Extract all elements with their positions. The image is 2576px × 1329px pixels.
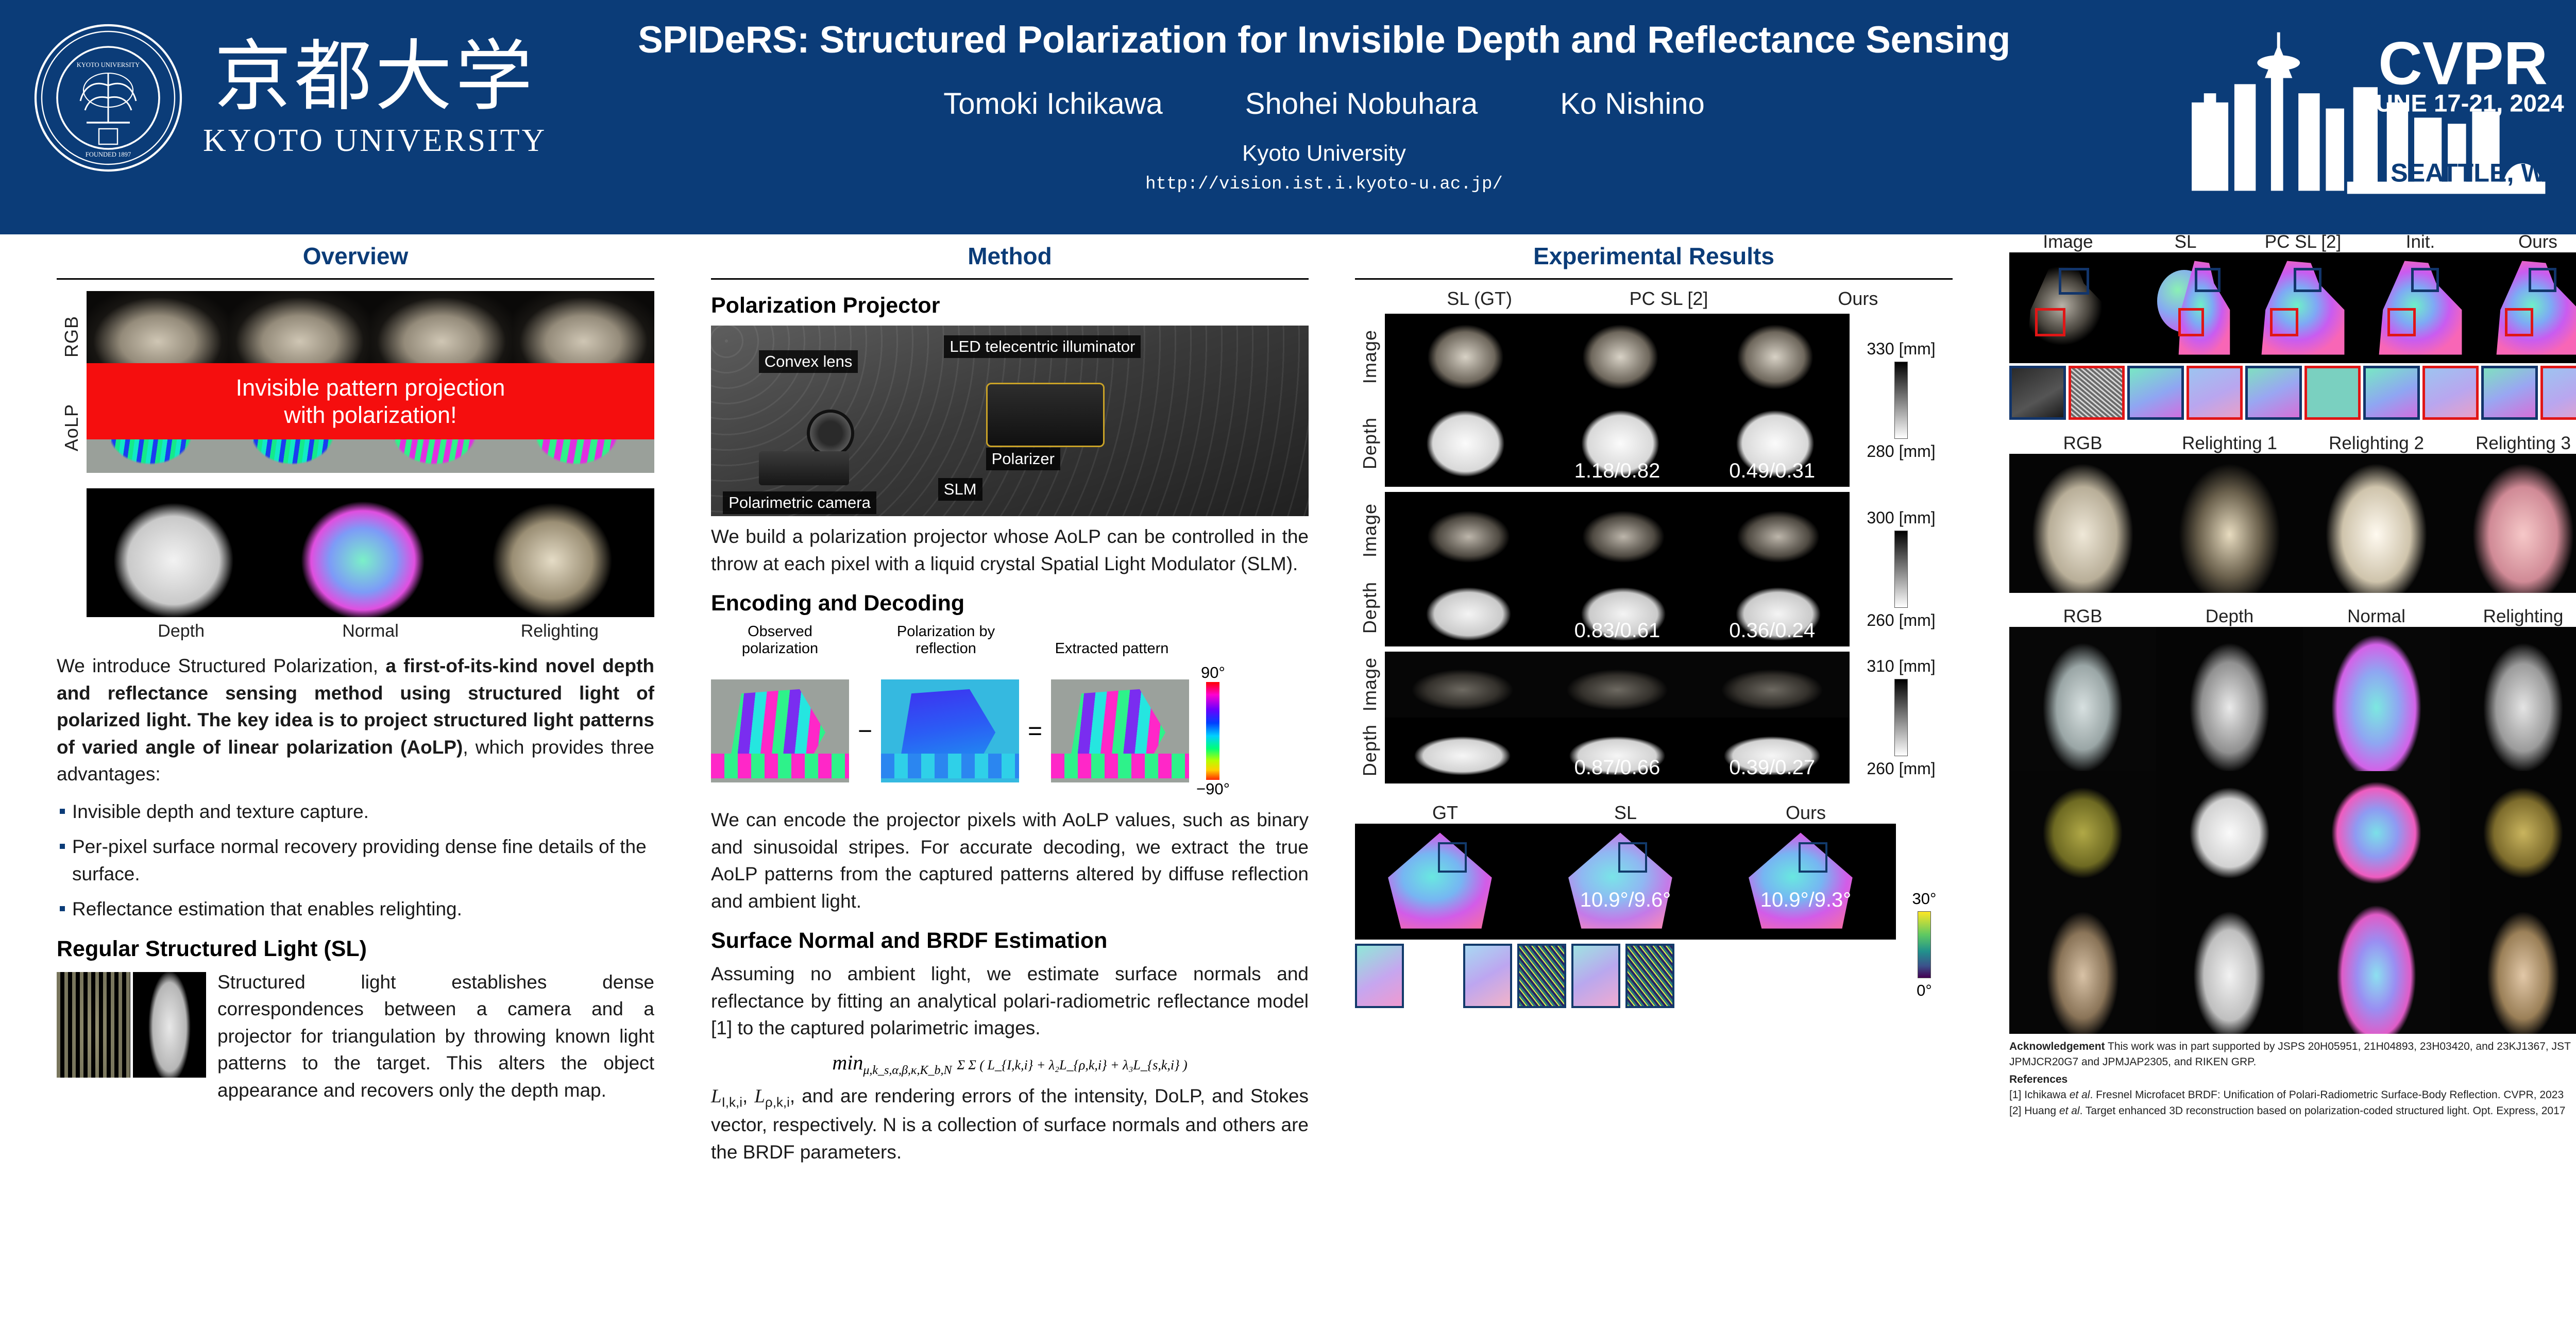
header-ours: Ours bbox=[2479, 232, 2576, 252]
extracted-pattern-image bbox=[1051, 679, 1189, 782]
relighting-result-image bbox=[465, 488, 654, 617]
colorbar-min-3: 260 [mm] bbox=[1867, 759, 1935, 778]
result-block-3: Image Depth 0.87/0.66 0.39/0.27 310 [ bbox=[1355, 652, 1953, 783]
sl-striped-capture bbox=[57, 972, 130, 1078]
polarimetric-camera-object bbox=[759, 451, 849, 485]
encoding-captions-row: Observed polarization Polarization by re… bbox=[711, 623, 1309, 657]
pug-normal-pcsl bbox=[2244, 252, 2362, 363]
aolp-scale-max: 90° bbox=[1201, 663, 1225, 682]
header-gallery-normal: Normal bbox=[2303, 606, 2450, 627]
header-pc-sl: PC SL [2] bbox=[2244, 232, 2362, 252]
brdf-description: Assuming no ambient light, we estimate s… bbox=[711, 961, 1309, 1042]
header-relight-rgb: RGB bbox=[2009, 433, 2156, 454]
metric-normal-sl: 10.9°/9.6° bbox=[1580, 889, 1671, 912]
zoom-inset-ours-error bbox=[1625, 944, 1674, 1008]
reference-item-2: [2] Huang et al. Target enhanced 3D reco… bbox=[2009, 1103, 2576, 1119]
column-overview: Overview RGB AoLP bbox=[57, 242, 654, 1104]
row-label-image: Image bbox=[1359, 330, 1381, 384]
zoom-inset-ours-normal bbox=[1571, 944, 1620, 1008]
polarization-by-reflection-image bbox=[881, 679, 1019, 782]
image-pcsl-3 bbox=[1540, 652, 1695, 718]
depth-ours-3: 0.39/0.27 bbox=[1694, 718, 1850, 783]
depth-pcsl-2: 0.83/0.61 bbox=[1540, 569, 1695, 646]
relighting-headers: RGB Relighting 1 Relighting 2 Relighting… bbox=[2009, 433, 2576, 454]
result-block-2: Image Depth 0.83/0.61 0.36/0.24 300 [ bbox=[1355, 492, 1953, 646]
angular-error-colorbar: 30° 0° bbox=[1896, 791, 1953, 1008]
aolp-colorbar: 90° −90° bbox=[1196, 663, 1230, 798]
normal-comparison-headers: GT SL Ours bbox=[1355, 802, 1896, 824]
header-ours: Ours bbox=[1764, 288, 1953, 310]
colorbar-min-1: 280 [mm] bbox=[1867, 442, 1935, 461]
depth-pcsl-1: 1.18/0.82 bbox=[1540, 400, 1695, 487]
colorbar-min-2: 260 [mm] bbox=[1867, 611, 1935, 630]
zoom-inset-sl-normal bbox=[1463, 944, 1512, 1008]
pug-normal-comparison-strip bbox=[2009, 252, 2576, 363]
depth-pcsl-3: 0.87/0.66 bbox=[1540, 718, 1695, 783]
aolp-colorbar-gradient bbox=[1206, 682, 1219, 780]
banner-line-1: Invisible pattern projection bbox=[236, 374, 505, 401]
gallery-grid bbox=[2009, 627, 2576, 1034]
zoom-inset-sl-error bbox=[1517, 944, 1566, 1008]
caption-observed-polarization: Observed polarization bbox=[711, 623, 849, 657]
led-illuminator-object bbox=[986, 383, 1105, 447]
section-divider bbox=[1355, 278, 1953, 280]
inset-init-red bbox=[2422, 366, 2479, 420]
column-experimental-results: Experimental Results SL (GT) PC SL [2] O… bbox=[1355, 242, 1953, 1008]
author-1: Tomoki Ichikawa bbox=[943, 87, 1162, 121]
image-ours-1 bbox=[1694, 314, 1850, 400]
overview-advantages-list: Invisible depth and texture capture. Per… bbox=[57, 798, 654, 923]
depth-gt-2 bbox=[1385, 569, 1540, 646]
zoom-inset-gt bbox=[1355, 944, 1404, 1008]
section-title-experimental-results: Experimental Results bbox=[1355, 242, 1953, 278]
image-ours-2 bbox=[1694, 492, 1850, 569]
gallery-rgb-3 bbox=[2009, 895, 2156, 1034]
row-label-image: Image bbox=[1359, 503, 1381, 557]
intro-pre-text: We introduce Structured Polarization, bbox=[57, 655, 385, 676]
ref-1-etal: et al bbox=[2070, 1089, 2090, 1101]
overview-intro-paragraph: We introduce Structured Polarization, a … bbox=[57, 653, 654, 788]
sl-depth-map bbox=[133, 972, 207, 1078]
author-3: Ko Nishino bbox=[1560, 87, 1704, 121]
kyoto-university-seal-icon: KYOTO UNIVERSITY FOUNDED 1897 bbox=[31, 21, 185, 175]
colorbar-max-3: 310 [mm] bbox=[1867, 657, 1935, 676]
list-item: Per-pixel surface normal recovery provid… bbox=[57, 833, 654, 888]
inset-sl-blue bbox=[2127, 366, 2184, 420]
header-normal-sl: SL bbox=[1535, 802, 1716, 824]
ref-2-rest: . Target enhanced 3D reconstruction base… bbox=[2080, 1105, 2566, 1117]
section-divider bbox=[711, 278, 1309, 280]
row-label-rgb: RGB bbox=[61, 316, 82, 357]
header-relight-1: Relighting 1 bbox=[2156, 433, 2303, 454]
pug-capture-image bbox=[2009, 252, 2127, 363]
pug-normal-sl bbox=[2127, 252, 2244, 363]
results-column-headers: SL (GT) PC SL [2] Ours bbox=[1385, 288, 1953, 310]
affiliation: Kyoto University bbox=[505, 141, 2143, 166]
relighting-results-strip bbox=[2009, 454, 2576, 593]
normal-colorbar-max: 30° bbox=[1912, 890, 1937, 908]
relight-rgb-image bbox=[2009, 454, 2156, 593]
acknowledgement-line: Acknowledgement This work was in part su… bbox=[2009, 1039, 2576, 1070]
metric-pcsl-3: 0.87/0.66 bbox=[1574, 756, 1660, 779]
image-gt-2 bbox=[1385, 492, 1540, 569]
caption-relighting: Relighting bbox=[465, 621, 654, 641]
header-relight-3: Relighting 3 bbox=[2450, 433, 2576, 454]
metric-pcsl-2: 0.83/0.61 bbox=[1574, 619, 1660, 642]
gallery-relight-3 bbox=[2450, 895, 2576, 1034]
image-pcsl-1 bbox=[1540, 314, 1695, 400]
caption-extracted-pattern: Extracted pattern bbox=[1043, 640, 1181, 657]
gallery-depth-2 bbox=[2156, 771, 2303, 895]
row-label-depth: Depth bbox=[1359, 724, 1381, 776]
normal-zoom-insets bbox=[1355, 944, 1896, 1008]
ref-1-rest: . Fresnel Microfacet BRDF: Unification o… bbox=[2090, 1089, 2564, 1101]
header-normal-ours: Ours bbox=[1716, 802, 1896, 824]
caption-depth: Depth bbox=[87, 621, 276, 641]
inset-sl-red bbox=[2187, 366, 2243, 420]
equation-min-operator: min bbox=[832, 1051, 863, 1074]
metric-pcsl-1: 1.18/0.82 bbox=[1574, 459, 1660, 483]
normal-gt-image bbox=[1355, 824, 1535, 940]
image-gt-1 bbox=[1385, 314, 1540, 400]
inset-image-red bbox=[2069, 366, 2125, 420]
caption-polarization-by-reflection: Polarization by reflection bbox=[877, 623, 1015, 657]
pug-normal-init bbox=[2362, 252, 2479, 363]
observed-polarization-image bbox=[711, 679, 849, 782]
gallery-normal-1 bbox=[2303, 627, 2450, 771]
gallery-depth-1 bbox=[2156, 627, 2303, 771]
minus-operator: − bbox=[856, 717, 874, 745]
poster-title: SPIDeRS: Structured Polarization for Inv… bbox=[505, 20, 2143, 61]
cvpr-location: SEATTLE, WA bbox=[2391, 158, 2563, 188]
label-convex-lens: Convex lens bbox=[759, 350, 858, 373]
image-pcsl-2 bbox=[1540, 492, 1695, 569]
normal-sl-image: 10.9°/9.6° bbox=[1535, 824, 1716, 940]
metric-normal-ours: 10.9°/9.3° bbox=[1760, 889, 1852, 912]
projector-description: We build a polarization projector whose … bbox=[711, 523, 1309, 577]
gallery-row-3 bbox=[2009, 895, 2576, 1034]
overview-results-trio: Depth Normal Relighting bbox=[87, 488, 654, 641]
cvpr-dates: JUNE 17-21, 2024 bbox=[2362, 90, 2565, 117]
normal-method-headers: Image SL PC SL [2] Init. Ours bbox=[2009, 232, 2576, 252]
section-title-overview: Overview bbox=[57, 242, 654, 278]
university-name-jp: 京都大学 bbox=[214, 37, 536, 118]
header-image: Image bbox=[2009, 232, 2127, 252]
list-item: Reflectance estimation that enables reli… bbox=[57, 896, 654, 923]
gallery-headers: RGB Depth Normal Relighting bbox=[2009, 606, 2576, 627]
equation-subscript: μ,k_s,α,β,κ,K_b,N bbox=[863, 1064, 952, 1077]
depth-ours-2: 0.36/0.24 bbox=[1694, 569, 1850, 646]
cvpr-conference-logo: CVPR JUNE 17-21, 2024 SEATTLE, WA bbox=[2161, 23, 2576, 206]
title-block: SPIDeRS: Structured Polarization for Inv… bbox=[505, 20, 2143, 194]
encoding-description: We can encode the projector pixels with … bbox=[711, 807, 1309, 915]
subsection-structured-light: Regular Structured Light (SL) bbox=[57, 936, 654, 962]
equals-operator: = bbox=[1026, 717, 1044, 745]
encoding-equation-figure: − = 90° −90° bbox=[711, 663, 1309, 798]
row-label-aolp: AoLP bbox=[61, 404, 82, 451]
header-sl-gt: SL (GT) bbox=[1385, 288, 1574, 310]
sl-example-figure bbox=[57, 972, 206, 1078]
depth-colorbar-3: 310 [mm] 260 [mm] bbox=[1850, 652, 1953, 783]
inset-init-blue bbox=[2363, 366, 2420, 420]
depth-colorbar-1: 330 [mm] 280 [mm] bbox=[1850, 314, 1953, 487]
header-pc-sl: PC SL [2] bbox=[1574, 288, 1763, 310]
label-polarimetric-camera: Polarimetric camera bbox=[723, 491, 876, 514]
banner-line-2: with polarization! bbox=[284, 401, 456, 429]
kyoto-university-logo: KYOTO UNIVERSITY FOUNDED 1897 京都大学 KYOTO… bbox=[31, 21, 547, 175]
depth-ours-1: 0.49/0.31 bbox=[1694, 400, 1850, 487]
section-divider bbox=[57, 278, 654, 280]
normal-comparison-figure: GT SL Ours 10.9°/9.6° 10.9°/9.3° bbox=[1355, 791, 1953, 1008]
normal-result-image bbox=[276, 488, 465, 617]
gallery-relight-1 bbox=[2450, 627, 2576, 771]
result-block-1: Image Depth 1.18/0.82 0.49/0.31 330 [ bbox=[1355, 314, 1953, 487]
header-init: Init. bbox=[2362, 232, 2479, 252]
pug-zoom-inset-row bbox=[2009, 366, 2576, 420]
normal-ours-image: 10.9°/9.3° bbox=[1716, 824, 1896, 940]
reference-item-1: [1] Ichikawa et al. Fresnel Microfacet B… bbox=[2009, 1087, 2576, 1103]
projector-rig-photo: Convex lens LED telecentric illuminator … bbox=[711, 326, 1309, 516]
sl-figure-and-text: Structured light establishes dense corre… bbox=[57, 969, 654, 1104]
ref-2-etal: et al bbox=[2059, 1105, 2080, 1117]
aolp-scale-min: −90° bbox=[1196, 780, 1230, 798]
university-name-en: KYOTO UNIVERSITY bbox=[203, 123, 547, 159]
project-url[interactable]: http://vision.ist.i.kyoto-u.ac.jp/ bbox=[505, 175, 2143, 194]
header-gallery-rgb: RGB bbox=[2009, 606, 2156, 627]
ref-2-number: [2] bbox=[2009, 1105, 2024, 1117]
row-label-depth: Depth bbox=[1359, 582, 1381, 634]
ref-1-authors: Ichikawa bbox=[2024, 1089, 2070, 1101]
invisible-pattern-banner: Invisible pattern projection with polari… bbox=[87, 363, 654, 439]
inset-pcsl-blue bbox=[2245, 366, 2302, 420]
ref-1-number: [1] bbox=[2009, 1089, 2024, 1101]
inset-image-blue bbox=[2009, 366, 2066, 420]
brdf-tail-text: , and are rendering errors of the intens… bbox=[711, 1085, 1309, 1163]
header-gallery-relighting: Relighting bbox=[2450, 606, 2576, 627]
label-slm: SLM bbox=[938, 478, 982, 501]
metric-ours-2: 0.36/0.24 bbox=[1729, 619, 1815, 642]
image-gt-3 bbox=[1385, 652, 1540, 718]
references-label: References bbox=[2009, 1074, 2067, 1085]
cvpr-name: CVPR bbox=[2378, 29, 2548, 97]
pug-normal-ours bbox=[2479, 252, 2576, 363]
depth-gt-1 bbox=[1385, 400, 1540, 487]
subsection-polarization-projector: Polarization Projector bbox=[711, 293, 1309, 318]
author-list: Tomoki Ichikawa Shohei Nobuhara Ko Nishi… bbox=[505, 87, 2143, 121]
depth-gt-3 bbox=[1385, 718, 1540, 783]
gallery-row-1 bbox=[2009, 627, 2576, 771]
gallery-relight-2 bbox=[2450, 771, 2576, 895]
section-title-method: Method bbox=[711, 242, 1309, 278]
label-led-illuminator: LED telecentric illuminator bbox=[944, 335, 1141, 358]
acknowledgement-label: Acknowledgement bbox=[2009, 1041, 2105, 1052]
normal-colorbar-min: 0° bbox=[1917, 981, 1932, 1000]
gallery-normal-3 bbox=[2303, 895, 2450, 1034]
caption-normal: Normal bbox=[276, 621, 465, 641]
variable-L: L bbox=[711, 1086, 722, 1107]
colorbar-max-2: 300 [mm] bbox=[1867, 508, 1935, 527]
acknowledgement-and-references: Acknowledgement This work was in part su… bbox=[2009, 1039, 2576, 1119]
metric-ours-3: 0.39/0.27 bbox=[1729, 756, 1815, 779]
ref-2-authors: Huang bbox=[2024, 1105, 2059, 1117]
inset-ours-red bbox=[2540, 366, 2576, 420]
relight-1-image bbox=[2156, 454, 2303, 593]
list-item: Invisible depth and texture capture. bbox=[57, 798, 654, 826]
header-gallery-depth: Depth bbox=[2156, 606, 2303, 627]
header-relight-2: Relighting 2 bbox=[2303, 433, 2450, 454]
gallery-depth-3 bbox=[2156, 895, 2303, 1034]
optimization-equation: minμ,k_s,α,β,κ,K_b,N Σ Σ ( L_{I,k,i} + λ… bbox=[711, 1050, 1309, 1078]
image-ours-3 bbox=[1694, 652, 1850, 718]
relight-2-image bbox=[2303, 454, 2450, 593]
gallery-rgb-2 bbox=[2009, 771, 2156, 895]
header-normal-gt: GT bbox=[1355, 802, 1535, 824]
gallery-row-2 bbox=[2009, 771, 2576, 895]
colorbar-max-1: 330 [mm] bbox=[1867, 339, 1935, 359]
poster-header: KYOTO UNIVERSITY FOUNDED 1897 京都大学 KYOTO… bbox=[0, 0, 2576, 234]
svg-text:FOUNDED 1897: FOUNDED 1897 bbox=[86, 151, 131, 158]
gallery-rgb-1 bbox=[2009, 627, 2156, 771]
column-qualitative-results: Image SL PC SL [2] Init. Ours bbox=[2009, 232, 2576, 1119]
depth-colorbar-2: 300 [mm] 260 [mm] bbox=[1850, 492, 1953, 646]
column-method: Method Polarization Projector Convex len… bbox=[711, 242, 1309, 1166]
inset-ours-blue bbox=[2481, 366, 2538, 420]
row-label-image: Image bbox=[1359, 657, 1381, 711]
subsection-brdf-estimation: Surface Normal and BRDF Estimation bbox=[711, 928, 1309, 953]
inset-pcsl-red bbox=[2304, 366, 2361, 420]
svg-text:KYOTO UNIVERSITY: KYOTO UNIVERSITY bbox=[77, 61, 140, 69]
row-label-depth: Depth bbox=[1359, 417, 1381, 469]
depth-result-image bbox=[87, 488, 276, 617]
subsection-encoding-decoding: Encoding and Decoding bbox=[711, 591, 1309, 616]
metric-ours-1: 0.49/0.31 bbox=[1729, 459, 1815, 483]
gallery-normal-2 bbox=[2303, 771, 2450, 895]
overview-montage: RGB AoLP Invisible pattern projection bbox=[57, 291, 654, 473]
brdf-variable-description: LI,k,i, Lρ,k,i, and are rendering errors… bbox=[711, 1083, 1309, 1166]
header-sl: SL bbox=[2127, 232, 2244, 252]
equation-body: Σ Σ ( L_{I,k,i} + λ₂L_{ρ,k,i} + λ₃L_{s,k… bbox=[957, 1058, 1187, 1072]
relight-3-image bbox=[2450, 454, 2576, 593]
author-2: Shohei Nobuhara bbox=[1245, 87, 1478, 121]
normal-comparison-grid: 10.9°/9.6° 10.9°/9.3° bbox=[1355, 824, 1896, 940]
label-polarizer: Polarizer bbox=[986, 448, 1060, 470]
convex-lens-object bbox=[807, 410, 854, 457]
